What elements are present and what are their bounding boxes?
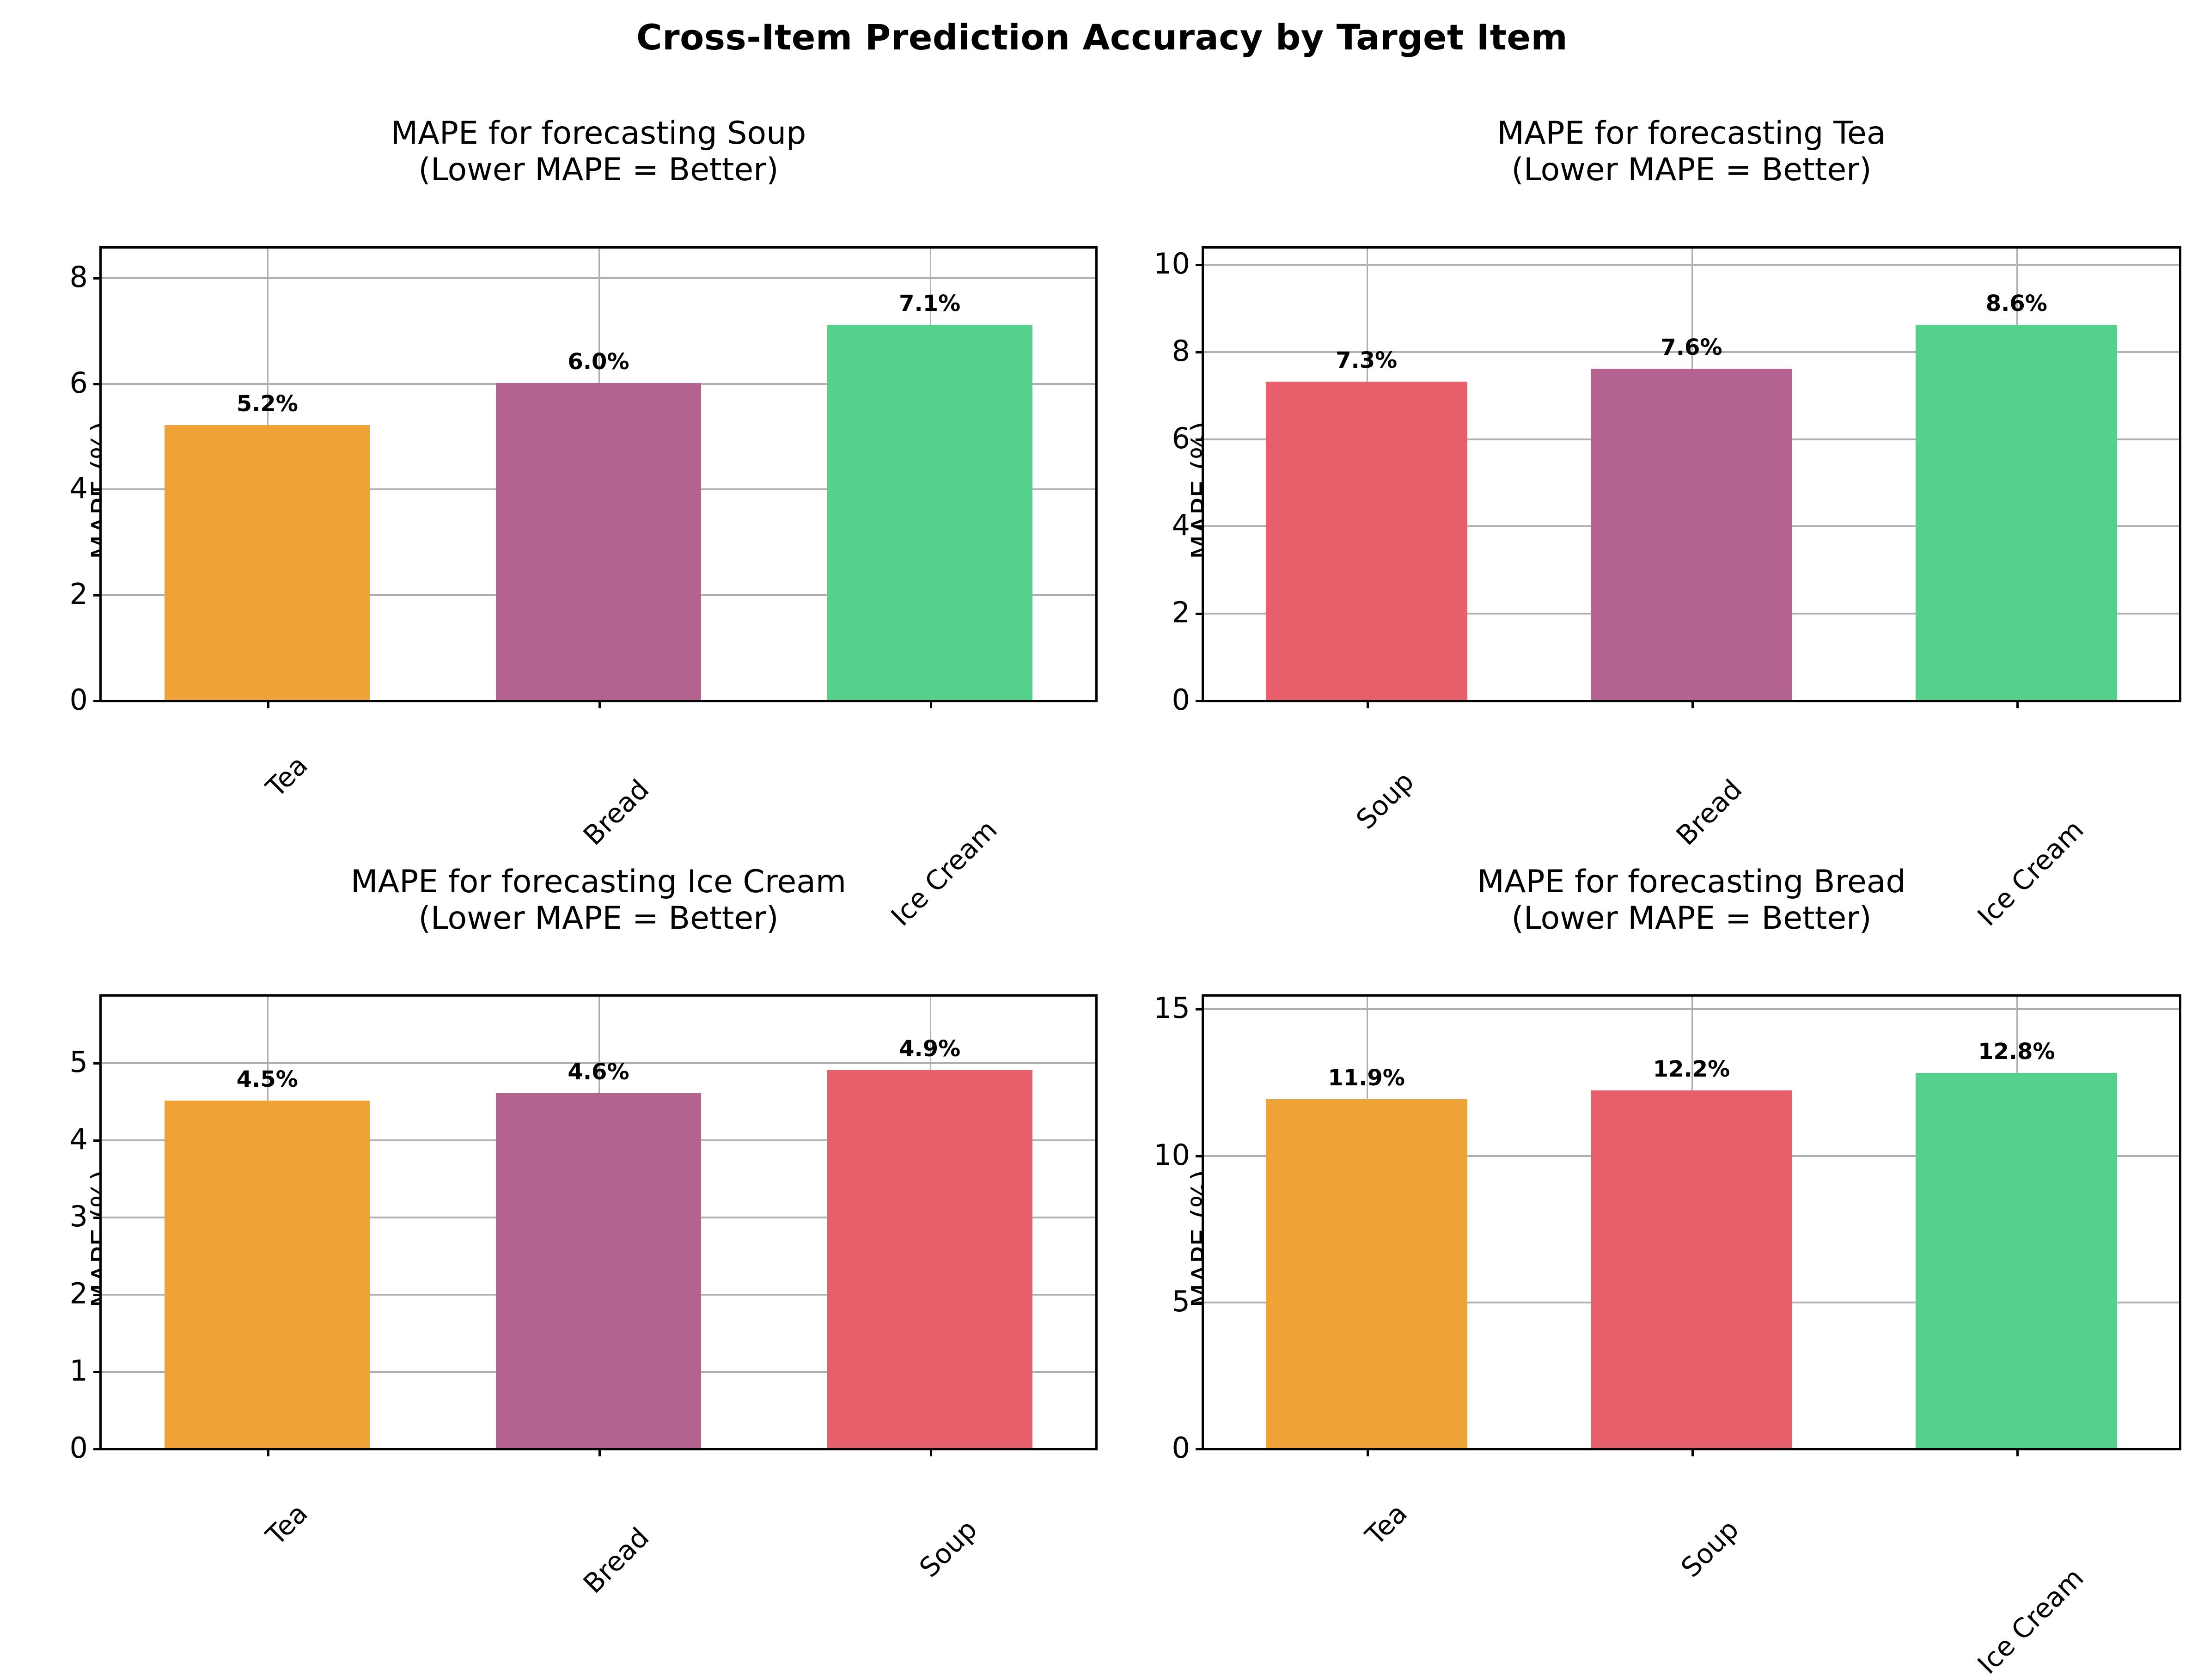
x-tick-label-text: Ice Cream xyxy=(1973,1564,2088,1679)
plot-area: 05101511.9%Tea12.2%Soup12.8%Ice Cream xyxy=(1202,994,2181,1450)
bar-value-label: 12.8% xyxy=(1978,1041,2055,1063)
x-tick-label: Ice Cream xyxy=(983,719,1098,834)
y-tick-label: 0 xyxy=(70,686,88,714)
x-tick-label: Bread xyxy=(1728,719,1802,794)
x-tick-mark xyxy=(598,1448,601,1456)
bar-soup[interactable]: 4.9% xyxy=(827,1070,1032,1448)
bar-value-label: 4.9% xyxy=(899,1038,960,1060)
x-tick-mark xyxy=(1367,700,1369,708)
y-tick-mark xyxy=(1196,1155,1204,1157)
y-tick-mark xyxy=(93,1062,102,1065)
x-tick-label-text: Soup xyxy=(1351,767,1418,834)
y-tick-label: 4 xyxy=(70,1125,88,1154)
x-tick-label: Soup xyxy=(1399,719,1465,786)
x-tick-label-text: Bread xyxy=(579,775,653,850)
y-tick-mark xyxy=(1196,700,1204,702)
y-tick-label: 5 xyxy=(1172,1287,1190,1316)
subplot-title-line2: (Lower MAPE = Better) xyxy=(1202,901,2181,937)
x-tick-label-text: Tea xyxy=(262,1499,312,1549)
y-tick-mark xyxy=(93,1371,102,1373)
y-tick-label: 4 xyxy=(1172,511,1190,540)
x-tick-label-text: Tea xyxy=(1361,1499,1411,1549)
y-tick-mark xyxy=(93,594,102,597)
y-tick-mark xyxy=(1196,438,1204,441)
subplot-title-line2: (Lower MAPE = Better) xyxy=(99,901,1098,937)
bar-tea[interactable]: 4.5% xyxy=(165,1101,370,1448)
x-tick-label: Bread xyxy=(635,1467,709,1542)
plot-inner: 0123454.5%Tea4.6%Bread4.9%Soup xyxy=(102,997,1095,1448)
x-tick-label: Tea xyxy=(1392,1467,1443,1518)
y-tick-mark xyxy=(1196,525,1204,528)
x-tick-label: Soup xyxy=(1724,1467,1791,1534)
plot-area: 02468107.3%Soup7.6%Bread8.6%Ice Cream xyxy=(1202,246,2181,702)
figure-suptitle: Cross-Item Prediction Accuracy by Target… xyxy=(0,0,2204,74)
bar-soup[interactable]: 7.3% xyxy=(1266,382,1467,700)
x-tick-mark xyxy=(598,700,601,708)
y-tick-label: 2 xyxy=(70,580,88,609)
bar-bread[interactable]: 4.6% xyxy=(496,1093,701,1448)
plot-area: 024685.2%Tea6.0%Bread7.1%Ice Cream xyxy=(99,246,1098,702)
y-tick-mark xyxy=(93,488,102,491)
bar-tea[interactable]: 5.2% xyxy=(165,425,370,700)
x-tick-label: Ice Cream xyxy=(2069,1467,2184,1583)
y-tick-mark xyxy=(1196,351,1204,353)
x-tick-label-text: Tea xyxy=(262,751,312,801)
subplot-title-line1: MAPE for forecasting Tea xyxy=(1202,116,2181,152)
x-tick-label-text: Bread xyxy=(1672,775,1746,850)
plot-inner: 05101511.9%Tea12.2%Soup12.8%Ice Cream xyxy=(1204,997,2179,1448)
y-tick-label: 6 xyxy=(70,369,88,397)
subplot-title: MAPE for forecasting Soup(Lower MAPE = B… xyxy=(99,116,1098,189)
subplot-title-line2: (Lower MAPE = Better) xyxy=(1202,152,2181,189)
plot-inner: 024685.2%Tea6.0%Bread7.1%Ice Cream xyxy=(102,249,1095,700)
x-tick-mark xyxy=(1691,1448,1694,1456)
bar-ice-cream[interactable]: 7.1% xyxy=(827,325,1032,700)
y-tick-mark xyxy=(1196,613,1204,615)
y-tick-mark xyxy=(93,1139,102,1142)
y-tick-label: 2 xyxy=(70,1279,88,1308)
x-tick-mark xyxy=(930,700,932,708)
x-tick-mark xyxy=(2016,700,2019,708)
bar-soup[interactable]: 12.2% xyxy=(1591,1090,1792,1448)
x-tick-mark xyxy=(1691,700,1694,708)
x-tick-label: Tea xyxy=(293,1467,344,1518)
bar-value-label: 11.9% xyxy=(1328,1067,1405,1089)
bar-bread[interactable]: 7.6% xyxy=(1591,369,1792,700)
x-tick-label-text: Bread xyxy=(579,1523,653,1598)
bar-value-label: 7.6% xyxy=(1661,336,1722,359)
y-tick-mark xyxy=(1196,1008,1204,1010)
bar-ice-cream[interactable]: 8.6% xyxy=(1916,325,2117,700)
subplot-title-line2: (Lower MAPE = Better) xyxy=(99,152,1098,189)
y-tick-mark xyxy=(1196,264,1204,266)
y-tick-label: 15 xyxy=(1154,994,1190,1023)
y-tick-mark xyxy=(1196,1302,1204,1304)
y-tick-label: 8 xyxy=(70,263,88,292)
y-tick-mark xyxy=(93,383,102,385)
x-tick-mark xyxy=(930,1448,932,1456)
y-tick-mark xyxy=(1196,1448,1204,1450)
y-tick-label: 1 xyxy=(70,1357,88,1385)
bar-value-label: 5.2% xyxy=(237,393,298,415)
plot-inner: 02468107.3%Soup7.6%Bread8.6%Ice Cream xyxy=(1204,249,2179,700)
x-tick-label-text: Soup xyxy=(915,1515,981,1582)
subplot-title: MAPE for forecasting Bread(Lower MAPE = … xyxy=(1202,864,2181,937)
y-tick-label: 0 xyxy=(1172,686,1190,714)
bar-value-label: 4.5% xyxy=(237,1068,298,1090)
subplot-title-line1: MAPE for forecasting Ice Cream xyxy=(99,864,1098,901)
x-tick-label: Ice Cream xyxy=(2069,719,2184,834)
bar-tea[interactable]: 11.9% xyxy=(1266,1099,1467,1448)
y-tick-label: 6 xyxy=(1172,424,1190,453)
plot-area: 0123454.5%Tea4.6%Bread4.9%Soup xyxy=(99,994,1098,1450)
bar-value-label: 7.3% xyxy=(1336,349,1397,371)
y-tick-mark xyxy=(93,700,102,702)
y-tick-label: 8 xyxy=(1172,337,1190,365)
x-tick-label-text: Soup xyxy=(1677,1515,1743,1582)
y-tick-label: 0 xyxy=(70,1434,88,1462)
x-tick-label: Tea xyxy=(293,719,344,770)
y-tick-label: 10 xyxy=(1154,250,1190,278)
y-tick-mark xyxy=(93,1448,102,1450)
bar-value-label: 6.0% xyxy=(568,351,629,373)
x-tick-mark xyxy=(267,1448,269,1456)
y-tick-label: 10 xyxy=(1154,1141,1190,1169)
subplot-title: MAPE for forecasting Ice Cream(Lower MAP… xyxy=(99,864,1098,937)
subplot-title-line1: MAPE for forecasting Bread xyxy=(1202,864,2181,901)
x-tick-label: Soup xyxy=(962,1467,1029,1534)
x-tick-mark xyxy=(1367,1448,1369,1456)
bar-value-label: 8.6% xyxy=(1986,292,2047,315)
bar-value-label: 7.1% xyxy=(899,292,960,315)
y-tick-label: 3 xyxy=(70,1202,88,1231)
x-tick-label: Bread xyxy=(635,719,709,794)
bar-ice-cream[interactable]: 12.8% xyxy=(1916,1073,2117,1448)
bar-value-label: 12.2% xyxy=(1653,1058,1730,1080)
x-tick-mark xyxy=(267,700,269,708)
subplot-title: MAPE for forecasting Tea(Lower MAPE = Be… xyxy=(1202,116,2181,189)
bar-value-label: 4.6% xyxy=(568,1061,629,1083)
x-tick-mark xyxy=(2016,1448,2019,1456)
y-tick-label: 4 xyxy=(70,474,88,503)
y-tick-label: 5 xyxy=(70,1048,88,1077)
y-tick-mark xyxy=(93,1294,102,1296)
y-tick-mark xyxy=(93,1217,102,1219)
y-tick-label: 0 xyxy=(1172,1434,1190,1462)
bar-bread[interactable]: 6.0% xyxy=(496,383,701,700)
y-tick-label: 2 xyxy=(1172,598,1190,627)
subplot-title-line1: MAPE for forecasting Soup xyxy=(99,116,1098,152)
y-tick-mark xyxy=(93,277,102,280)
